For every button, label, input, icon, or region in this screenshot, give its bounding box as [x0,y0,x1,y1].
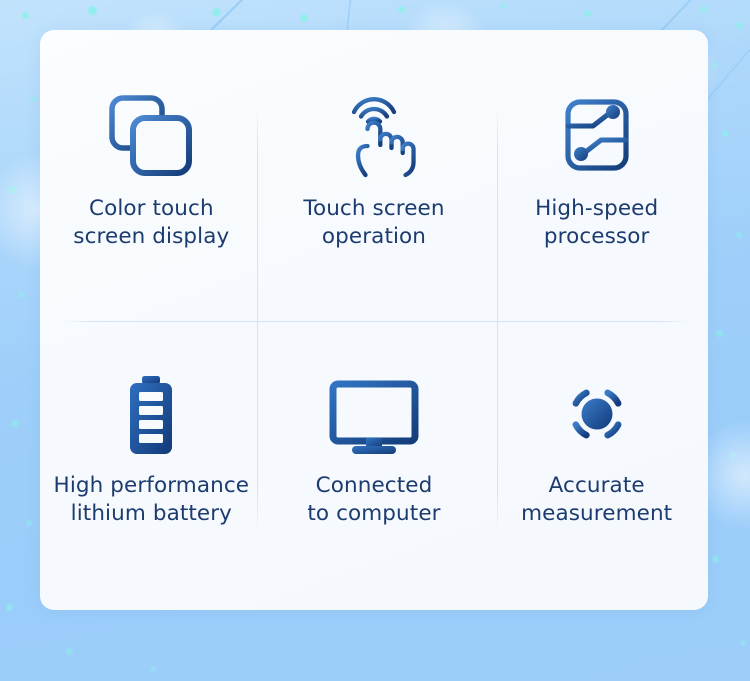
background-dot [712,62,718,68]
background-dot [150,666,156,672]
background-dot [712,556,719,563]
background-dot [212,8,221,17]
feature-item-color-touch-screen-display[interactable]: Color touch screen display [40,30,263,320]
monitor-icon [328,360,420,456]
background-dot [88,6,97,15]
cpu-chip-icon [543,83,651,179]
feature-label: Connected to computer [307,472,440,529]
background-dot [6,604,13,611]
feature-highlights-page: Color touch screen display [0,0,750,681]
background-dot [736,22,743,29]
feature-label: High performance lithium battery [54,472,250,529]
features-grid: Color touch screen display [40,30,708,610]
battery-icon [120,360,182,456]
feature-label: High-speed processor [535,195,658,252]
background-dot [18,292,24,298]
feature-item-touch-screen-operation[interactable]: Touch screen operation [263,30,486,320]
background-dot [584,10,591,17]
background-dot [700,6,707,13]
touch-hand-icon [332,83,416,179]
background-dot [66,648,73,655]
background-dot [722,130,729,137]
target-crosshair-icon [555,360,639,456]
background-dot [730,452,736,458]
feature-item-high-performance-lithium-battery[interactable]: High performance lithium battery [40,320,263,610]
background-dot [22,12,29,19]
feature-label: Touch screen operation [303,195,444,252]
feature-item-accurate-measurement[interactable]: Accurate measurement [485,320,708,610]
background-dot [398,6,405,13]
feature-item-high-speed-processor[interactable]: High-speed processor [485,30,708,320]
feature-label: Color touch screen display [73,195,229,252]
background-dot [500,3,506,9]
feature-label: Accurate measurement [521,472,672,529]
background-dot [26,520,32,526]
background-dot [716,330,723,337]
background-dot [300,14,308,22]
layers-screens-icon [105,83,197,179]
background-dot [30,96,36,102]
feature-item-connected-to-computer[interactable]: Connected to computer [263,320,486,610]
background-dot [8,186,16,194]
features-card: Color touch screen display [40,30,708,610]
background-dot [12,420,19,427]
background-dot [736,232,742,238]
background-dot [740,640,746,646]
